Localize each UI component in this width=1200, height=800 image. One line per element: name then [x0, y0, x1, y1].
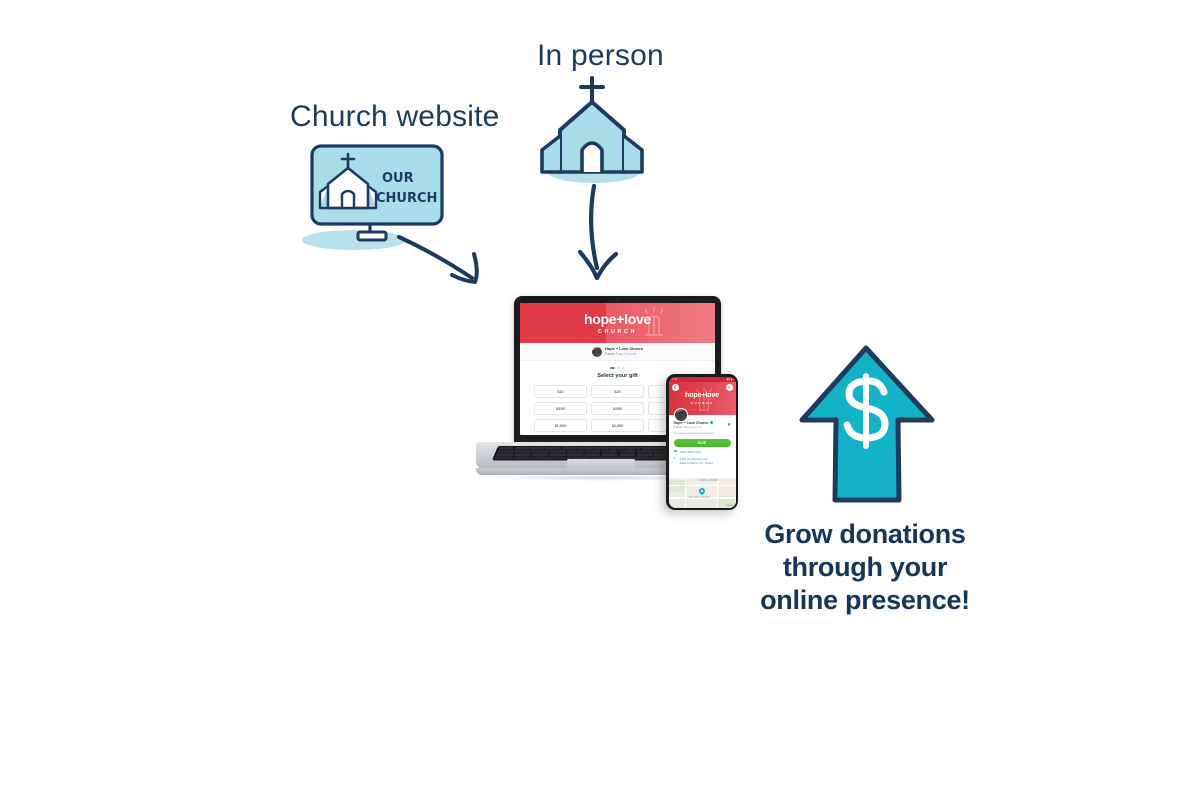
- praying-hands-icon: [637, 306, 671, 340]
- avatar: [674, 408, 688, 422]
- avatar: [592, 347, 602, 357]
- share-icon: [727, 385, 731, 389]
- phone-brand-logo: hope+love: [685, 391, 719, 398]
- map-pin-icon: ●: [674, 457, 678, 461]
- laptop-profile-title: Pastor Troy Edwards: [605, 352, 643, 356]
- phone-screen: 9:41 ▮▮ ▮ hope+love: [669, 377, 736, 508]
- status-indicators: ▮▮ ▮: [727, 378, 733, 381]
- curved-arrow-down-right-icon: [396, 232, 500, 292]
- gift-amount-option[interactable]: $10: [534, 385, 587, 398]
- laptop-brand-sublogo: CHURCH: [598, 329, 637, 335]
- heart-icon[interactable]: ♥: [728, 423, 731, 428]
- label-church-website: Church website: [290, 100, 500, 134]
- device-mockups: hope+love CHURCH Hope + Love Church Past…: [468, 296, 758, 516]
- phone-org-subtitle: Pastor Troy Edwards: [674, 425, 731, 429]
- monitor-text-our: OUR: [382, 171, 414, 186]
- share-button[interactable]: [726, 384, 733, 391]
- gift-amount-option[interactable]: $25: [591, 385, 644, 398]
- arrow-down-icon: [572, 182, 624, 290]
- status-time: 9:41: [672, 378, 678, 381]
- phone-map[interactable]: RANDALL MANOR Silver Manor Brighton Goog…: [669, 478, 736, 508]
- phone-address-row[interactable]: ● 8110 Henderson AveStaten Island, NY 10…: [669, 454, 736, 465]
- gift-amount-option[interactable]: $2,500: [591, 419, 644, 432]
- laptop-trackpad[interactable]: [567, 459, 635, 468]
- smartphone-mockup: 9:41 ▮▮ ▮ hope+love: [666, 374, 738, 510]
- phone-org-tagline: Non denominational organization: [674, 431, 731, 435]
- monitor-text-church: CHURCH: [376, 191, 437, 206]
- gift-amount-option[interactable]: $1,000: [534, 419, 587, 432]
- phone-address[interactable]: 8110 Henderson AveStaten Island, NY 1031…: [680, 457, 713, 465]
- give-button[interactable]: GIVE: [674, 439, 731, 447]
- illustration-canvas: Church website In person OUR CHURCH: [0, 0, 1200, 800]
- back-button[interactable]: [672, 384, 679, 391]
- chevron-left-icon: [673, 385, 677, 389]
- verified-badge-icon: [710, 421, 713, 424]
- phone-brand-sublogo: CHURCH: [691, 401, 714, 405]
- map-label-top: RANDALL MANOR: [699, 480, 719, 482]
- phone-icon: ☎: [674, 450, 678, 454]
- headline-line-3: online presence!: [720, 584, 1010, 617]
- phone-contact-row[interactable]: ☎ (555) 555-1234: [669, 447, 736, 454]
- map-label-center: Silver Manor Brighton: [689, 497, 711, 499]
- church-building-icon: [528, 68, 656, 190]
- headline: Grow donations through your online prese…: [720, 518, 1010, 617]
- gift-amount-option[interactable]: $250: [591, 402, 644, 415]
- map-attribution: Google: [726, 505, 733, 507]
- laptop-profile-row: Hope + Love Church Pastor Troy Edwards: [520, 343, 715, 361]
- webcam-icon: [617, 299, 619, 301]
- map-pin-icon: [698, 486, 706, 494]
- carousel-dots[interactable]: [520, 361, 715, 369]
- gift-amount-option[interactable]: $100: [534, 402, 587, 415]
- dollar-up-arrow-icon: [796, 342, 938, 508]
- phone-number[interactable]: (555) 555-1234: [680, 450, 701, 454]
- giving-page-hero: hope+love CHURCH: [520, 303, 715, 343]
- headline-line-1: Grow donations: [720, 518, 1010, 551]
- headline-line-2: through your: [720, 551, 1010, 584]
